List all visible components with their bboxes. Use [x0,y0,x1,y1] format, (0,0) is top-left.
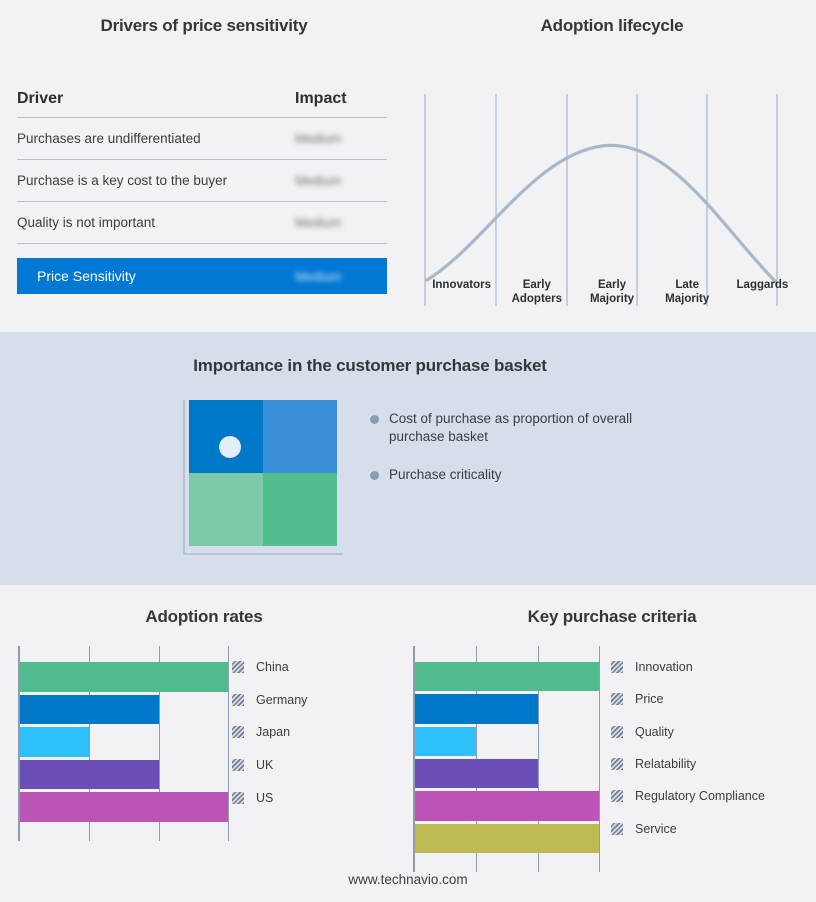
lifecycle-segment-late-majority: Late Majority [650,278,725,308]
chart-bar [415,759,538,788]
plot-area [18,646,228,841]
legend-item: Quality [611,716,765,748]
legend-swatch-icon [611,758,623,770]
lifecycle-segment-early-majority: Early Majority [574,278,649,308]
chart-gridline [599,646,600,872]
drivers-table-header: Driver Impact [17,90,387,118]
adoption-rates-panel: Adoption rates ChinaGermanyJapanUKUS [0,585,408,902]
adoption-rates-title: Adoption rates [0,607,408,627]
legend-label: Price [635,692,663,706]
chart-bar [20,727,89,757]
list-item: Cost of purchase as proportion of overal… [370,410,670,446]
lifecycle-title: Adoption lifecycle [408,16,816,36]
legend-label: Service [635,822,677,836]
segment-line-2: Laggards [725,278,800,292]
legend-label: US [256,791,273,805]
segment-line-2: Majority [574,292,649,306]
table-row-highlighted: Price Sensitivity Medium [17,258,387,294]
importance-title: Importance in the customer purchase bask… [0,356,740,376]
chart-bar [415,824,599,853]
legend-item: Relatability [611,748,765,780]
legend-item: Germany [232,684,307,717]
matrix-quadrant-bottom-left [189,473,263,546]
matrix-y-axis [183,400,185,555]
key-purchase-criteria-chart [413,646,599,872]
lifecycle-segment-laggards: Laggards [725,278,800,308]
lifecycle-segment-labels: Innovators Early Adopters Early Majority… [424,278,800,308]
legend-label: China [256,660,289,674]
importance-panel: Importance in the customer purchase bask… [0,332,816,585]
legend-label: UK [256,758,273,772]
importance-legend: Cost of purchase as proportion of overal… [370,410,670,504]
driver-name: Purchase is a key cost to the buyer [17,173,295,188]
legend-label: Purchase criticality [389,466,502,484]
driver-impact-value: Medium [295,131,387,146]
driver-name: Purchases are undifferentiated [17,131,295,146]
legend-label: Relatability [635,757,696,771]
legend-swatch-icon [232,726,244,738]
footer-url: www.technavio.com [0,872,816,887]
driver-name: Quality is not important [17,215,295,230]
matrix-quadrants [189,400,337,546]
table-row: Purchase is a key cost to the buyer Medi… [17,160,387,202]
lifecycle-chart: Innovators Early Adopters Early Majority… [424,80,800,308]
chart-gridline [228,646,229,841]
legend-item: China [232,651,307,684]
segment-line-1: Late [650,278,725,292]
legend-swatch-icon [611,726,623,738]
legend-label: Quality [635,725,674,739]
legend-swatch-icon [611,693,623,705]
matrix-position-marker [219,436,241,458]
legend-label: Japan [256,725,290,739]
legend-item: US [232,781,307,814]
legend-item: Innovation [611,651,765,683]
importance-matrix [183,400,343,555]
lifecycle-curve-svg [424,80,800,308]
infographic-page: Drivers of price sensitivity Driver Impa… [0,0,816,902]
legend-swatch-icon [232,694,244,706]
key-purchase-criteria-legend: InnovationPriceQualityRelatabilityRegula… [611,651,765,845]
legend-item: Price [611,683,765,715]
bullet-icon [370,471,379,480]
matrix-x-axis [183,553,343,555]
legend-item: Japan [232,716,307,749]
highlight-row-impact-value: Medium [295,269,387,284]
legend-item: Service [611,813,765,845]
legend-swatch-icon [232,792,244,804]
legend-label: Innovation [635,660,693,674]
chart-bar [415,662,599,691]
key-purchase-criteria-panel: Key purchase criteria InnovationPriceQua… [408,585,816,902]
drivers-panel: Drivers of price sensitivity Driver Impa… [0,0,408,332]
column-header-driver: Driver [17,90,295,108]
driver-impact-value: Medium [295,173,387,188]
legend-swatch-icon [611,823,623,835]
drivers-title: Drivers of price sensitivity [0,16,408,36]
driver-impact-value: Medium [295,215,387,230]
legend-swatch-icon [232,759,244,771]
legend-label: Cost of purchase as proportion of overal… [389,410,639,446]
lifecycle-segment-innovators: Innovators [424,278,499,308]
chart-bar [20,760,159,790]
table-row: Quality is not important Medium [17,202,387,244]
highlight-row-label: Price Sensitivity [37,268,295,284]
column-header-impact: Impact [295,90,387,108]
table-row: Purchases are undifferentiated Medium [17,118,387,160]
legend-label: Germany [256,693,307,707]
legend-label: Regulatory Compliance [635,789,765,803]
legend-swatch-icon [611,790,623,802]
key-purchase-criteria-title: Key purchase criteria [408,607,816,627]
matrix-quadrant-top-right [263,400,337,473]
lifecycle-bell-curve [427,145,776,282]
chart-bar [20,695,159,725]
legend-swatch-icon [232,661,244,673]
segment-line-2: Innovators [424,278,499,292]
legend-item: UK [232,749,307,782]
adoption-rates-chart [18,646,228,841]
segment-line-1: Early [574,278,649,292]
chart-bar [20,792,228,822]
adoption-rates-legend: ChinaGermanyJapanUKUS [232,651,307,814]
drivers-table: Driver Impact Purchases are undifferenti… [17,90,387,294]
segment-line-1: Early [499,278,574,292]
chart-bar [415,727,476,756]
bullet-icon [370,415,379,424]
legend-item: Regulatory Compliance [611,780,765,812]
lifecycle-dividers [425,94,777,306]
chart-bar [415,791,599,820]
segment-line-2: Adopters [499,292,574,306]
chart-bar [415,694,538,723]
lifecycle-segment-early-adopters: Early Adopters [499,278,574,308]
segment-line-2: Majority [650,292,725,306]
lifecycle-panel: Adoption lifecycle Innovators [408,0,816,332]
plot-area [413,646,599,872]
legend-swatch-icon [611,661,623,673]
chart-bar [20,662,228,692]
matrix-quadrant-bottom-right [263,473,337,546]
list-item: Purchase criticality [370,466,670,484]
